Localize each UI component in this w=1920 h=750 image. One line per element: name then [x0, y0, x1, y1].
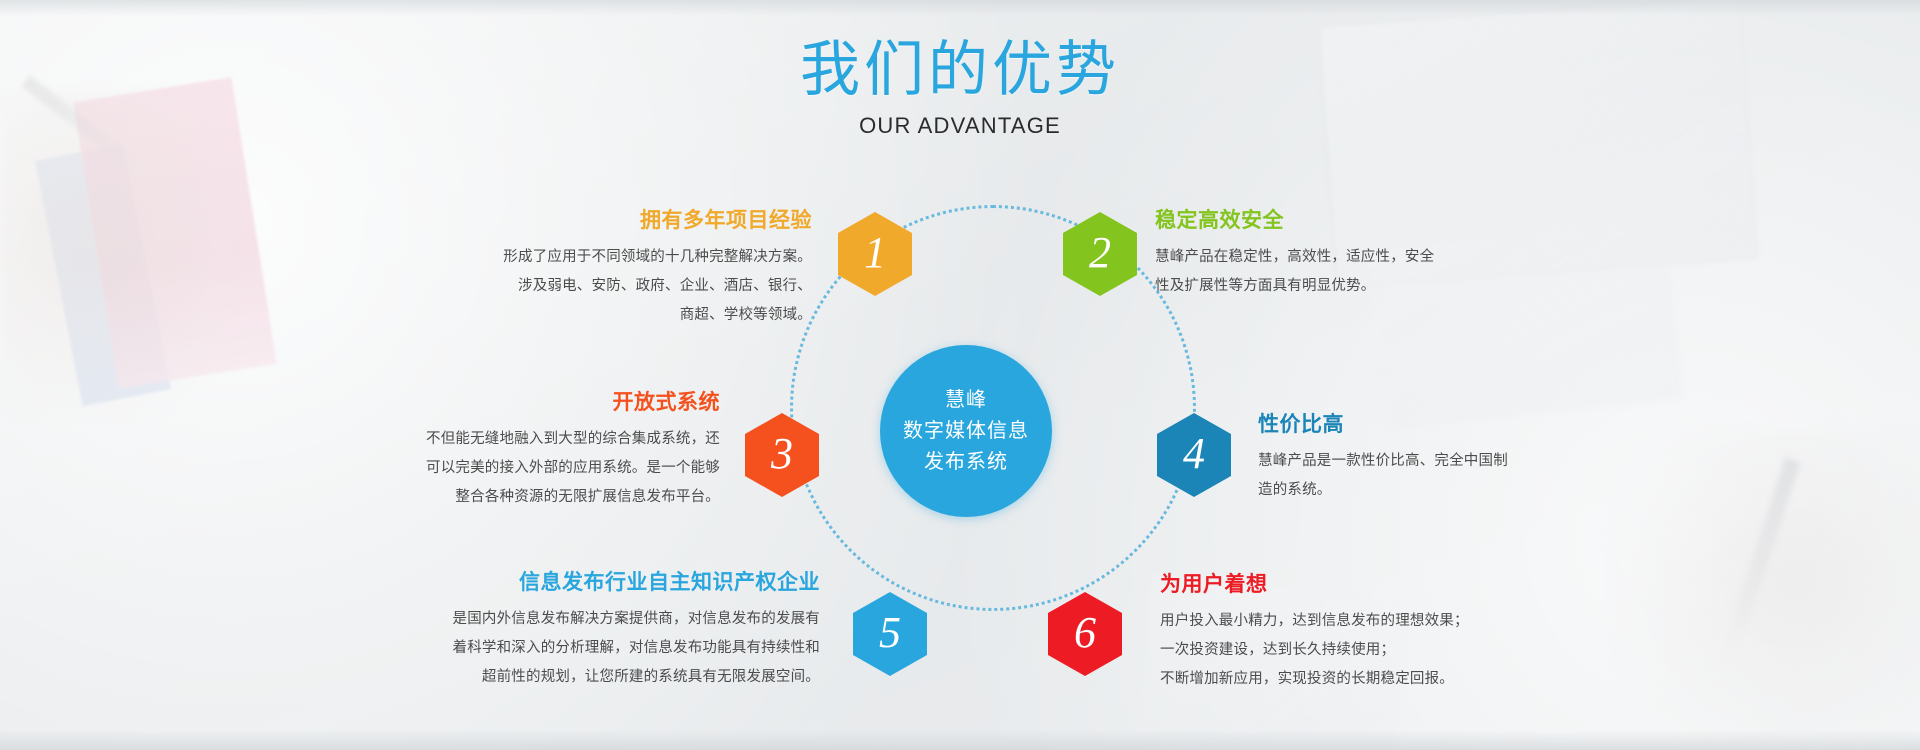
advantage-item-4-body: 慧峰产品是一款性价比高、完全中国制造的系统。 [1258, 447, 1658, 505]
hex-badge-6-number: 6 [1074, 611, 1096, 655]
advantage-item-5: 信息发布行业自主知识产权企业 是国内外信息发布解决方案提供商，对信息发布的发展有… [330, 570, 820, 692]
advantage-item-6-heading: 为用户着想 [1160, 572, 1640, 597]
hex-badge-5[interactable]: 5 [853, 592, 927, 676]
advantage-item-1: 拥有多年项目经验 形成了应用于不同领域的十几种完整解决方案。涉及弱电、安防、政府… [380, 208, 812, 330]
advantage-item-5-body: 是国内外信息发布解决方案提供商，对信息发布的发展有着科学和深入的分析理解，对信息… [330, 605, 820, 692]
advantage-item-6: 为用户着想 用户投入最小精力，达到信息发布的理想效果；一次投资建设，达到长久持续… [1160, 572, 1640, 694]
page-header: 我们的优势 OUR ADVANTAGE [0, 38, 1920, 139]
advantage-infographic: 我们的优势 OUR ADVANTAGE 慧峰 数字媒体信息 发布系统 1 2 3… [0, 0, 1920, 750]
advantage-item-3-body: 不但能无缝地融入到大型的综合集成系统，还可以完美的接入外部的应用系统。是一个能够… [300, 425, 720, 512]
center-line-2: 数字媒体信息 [903, 416, 1029, 447]
advantage-item-2-heading: 稳定高效安全 [1155, 208, 1595, 233]
hex-badge-2-number: 2 [1089, 231, 1111, 275]
advantage-item-4-heading: 性价比高 [1258, 412, 1658, 437]
center-line-1: 慧峰 [945, 385, 987, 416]
page-title: 我们的优势 [0, 38, 1920, 101]
center-line-3: 发布系统 [924, 447, 1008, 478]
center-circle: 慧峰 数字媒体信息 发布系统 [880, 345, 1052, 517]
advantage-item-5-heading: 信息发布行业自主知识产权企业 [330, 570, 820, 595]
advantage-item-3-heading: 开放式系统 [300, 390, 720, 415]
advantage-item-1-heading: 拥有多年项目经验 [380, 208, 812, 233]
hex-badge-6[interactable]: 6 [1048, 592, 1122, 676]
advantage-item-3: 开放式系统 不但能无缝地融入到大型的综合集成系统，还可以完美的接入外部的应用系统… [300, 390, 720, 512]
advantage-item-2: 稳定高效安全 慧峰产品在稳定性，高效性，适应性，安全性及扩展性等方面具有明显优势… [1155, 208, 1595, 301]
advantage-item-6-body: 用户投入最小精力，达到信息发布的理想效果；一次投资建设，达到长久持续使用；不断增… [1160, 607, 1640, 694]
hex-badge-3-number: 3 [771, 432, 793, 476]
hex-badge-1-number: 1 [864, 231, 886, 275]
advantage-item-2-body: 慧峰产品在稳定性，高效性，适应性，安全性及扩展性等方面具有明显优势。 [1155, 243, 1595, 301]
advantage-item-1-body: 形成了应用于不同领域的十几种完整解决方案。涉及弱电、安防、政府、企业、酒店、银行… [380, 243, 812, 330]
advantage-item-4: 性价比高 慧峰产品是一款性价比高、完全中国制造的系统。 [1258, 412, 1658, 505]
page-subtitle: OUR ADVANTAGE [0, 113, 1920, 139]
hex-badge-4-number: 4 [1183, 432, 1205, 476]
hex-badge-5-number: 5 [879, 611, 901, 655]
